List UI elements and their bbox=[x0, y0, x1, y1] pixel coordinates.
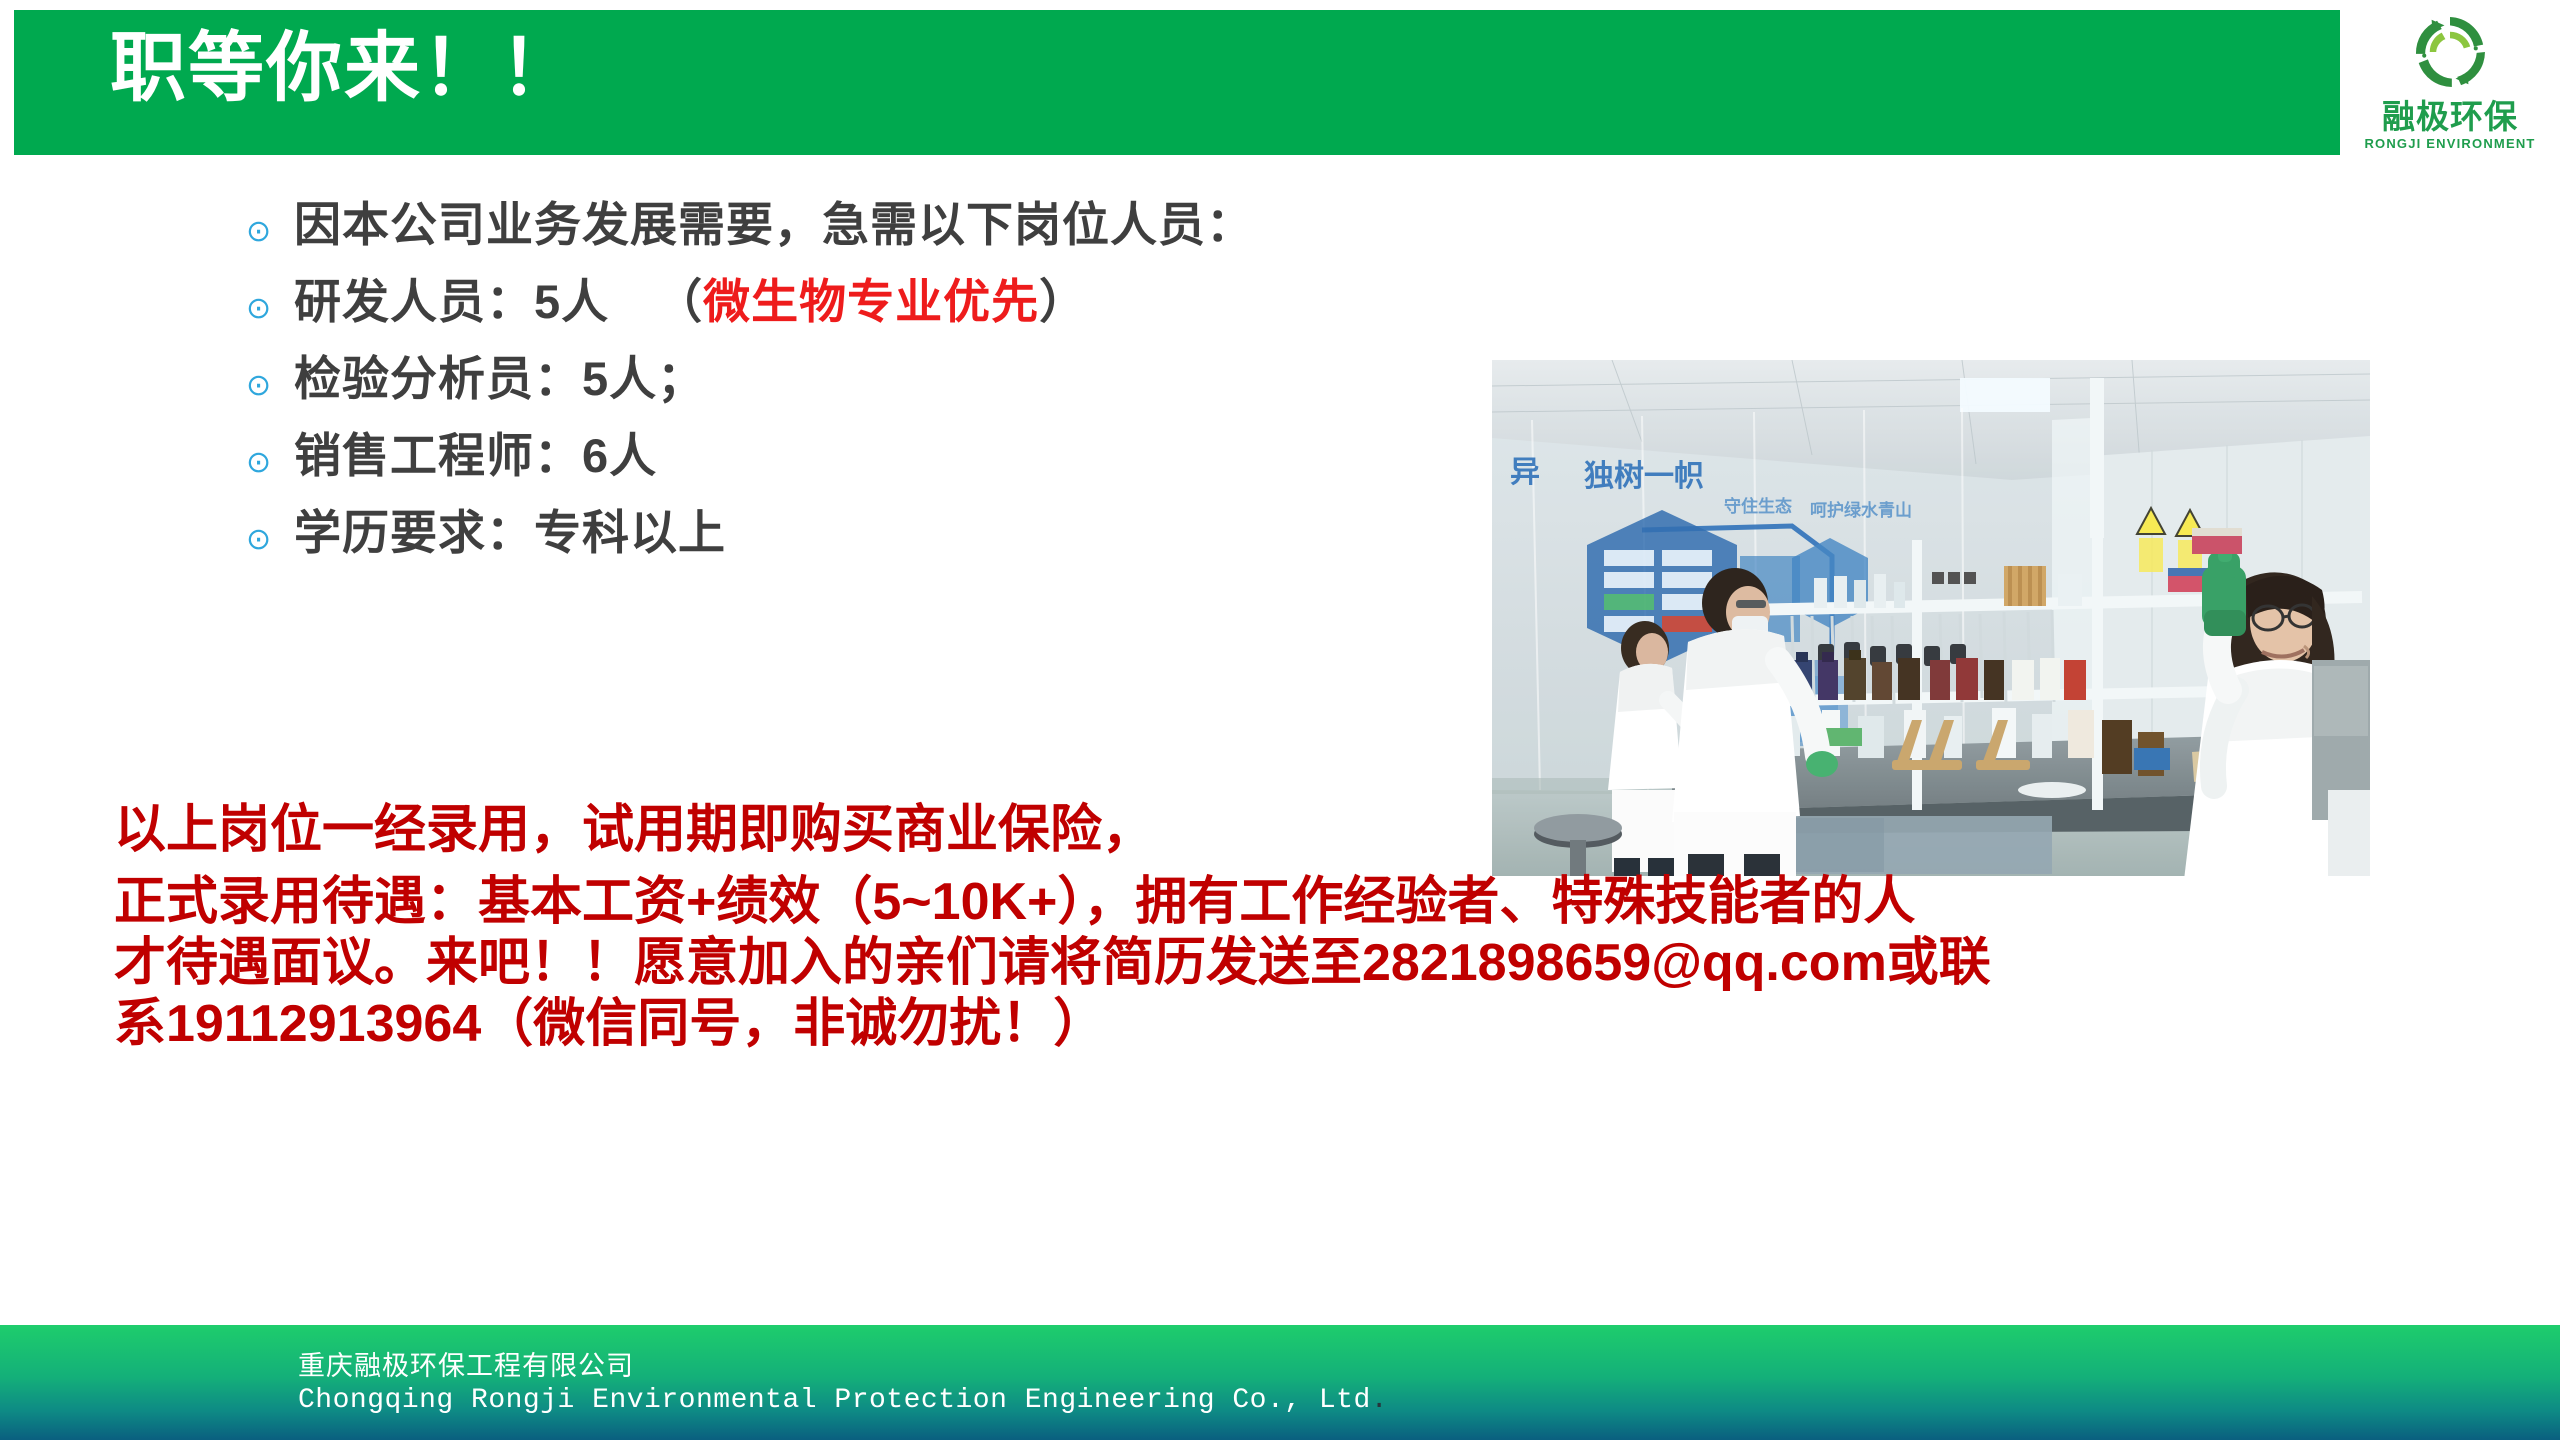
bullet-dot-icon: ⊙ bbox=[246, 294, 294, 324]
list-item: ⊙ 检验分析员：5人； bbox=[246, 352, 1546, 429]
footer-company-en-dot: . bbox=[1371, 1385, 1388, 1416]
footer-company-cn: 重庆融极环保工程有限公司 bbox=[298, 1344, 634, 1383]
bullet-item-label: 检验分析员：5人； bbox=[294, 352, 705, 406]
laboratory-photo-illustration: 异 独树一帜 守住生态 呵护绿水青山 bbox=[1492, 360, 2370, 876]
footer-company-en: Chongqing Rongji Environmental Protectio… bbox=[298, 1385, 1388, 1416]
bullet-highlight: 微生物专业优先 bbox=[703, 275, 1039, 328]
bullet-dot-icon: ⊙ bbox=[246, 371, 294, 401]
list-item: ⊙ 销售工程师：6人 bbox=[246, 429, 1546, 506]
bullet-item-label: 销售工程师：6人 bbox=[294, 429, 657, 483]
bullet-item-label: 因本公司业务发展需要，急需以下岗位人员： bbox=[294, 198, 1254, 252]
paragraph-line: 以上岗位一经录用，试用期即购买商业保险， bbox=[114, 800, 2494, 861]
logo-name-en: RONGJI ENVIRONMENT bbox=[2364, 137, 2535, 150]
bullet-dot-icon: ⊙ bbox=[246, 448, 294, 478]
bullet-dot-icon: ⊙ bbox=[246, 525, 294, 555]
list-item: ⊙ 研发人员：5人（微生物专业优先） bbox=[246, 275, 1546, 352]
bullet-item-label: 学历要求：专科以上 bbox=[294, 506, 726, 560]
company-logo: 融极环保 RONGJI ENVIRONMENT bbox=[2340, 0, 2560, 160]
bullet-item-label: 研发人员：5人（微生物专业优先） bbox=[294, 275, 1087, 329]
recruitment-details-paragraph: 以上岗位一经录用，试用期即购买商业保险， 正式录用待遇：基本工资+绩效（5~10… bbox=[114, 800, 2494, 1055]
page-title: 职等你来！！ bbox=[110, 14, 578, 124]
job-bullet-list: ⊙ 因本公司业务发展需要，急需以下岗位人员： ⊙ 研发人员：5人（微生物专业优先… bbox=[246, 198, 1546, 583]
laboratory-photo: 异 独树一帜 守住生态 呵护绿水青山 bbox=[1492, 360, 2370, 876]
paragraph-line: 正式录用待遇：基本工资+绩效（5~10K+），拥有工作经验者、特殊技能者的人 bbox=[114, 872, 2494, 933]
footer-company-en-text: Chongqing Rongji Environmental Protectio… bbox=[298, 1385, 1371, 1416]
recycle-circle-icon bbox=[2404, 6, 2496, 98]
paragraph-line: 才待遇面议。来吧！！愿意加入的亲们请将简历发送至2821898659@qq.co… bbox=[114, 933, 2494, 994]
logo-name-cn: 融极环保 bbox=[2382, 100, 2518, 133]
paragraph-line: 系19112913964（微信同号，非诚勿扰！） bbox=[114, 994, 2494, 1055]
list-item: ⊙ 因本公司业务发展需要，急需以下岗位人员： bbox=[246, 198, 1546, 275]
bullet-dot-icon: ⊙ bbox=[246, 217, 294, 247]
list-item: ⊙ 学历要求：专科以上 bbox=[246, 506, 1546, 583]
